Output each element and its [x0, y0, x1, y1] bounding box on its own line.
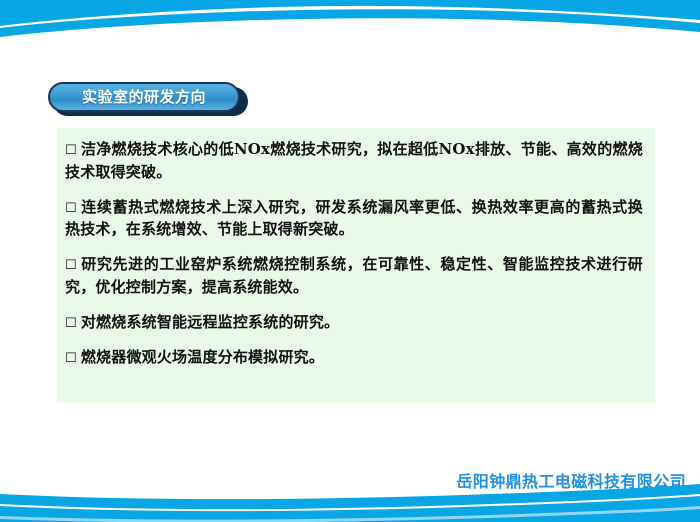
checkbox-icon: ☐	[65, 143, 81, 158]
title-badge-label: 实验室的研发方向	[82, 90, 206, 105]
top-wave-band-upper	[0, 0, 700, 26]
top-wave-decoration	[0, 0, 700, 46]
list-item-text: 燃烧器微观火场温度分布模拟研究。	[81, 348, 324, 366]
list-item: ☐对燃烧系统智能远程监控系统的研究。	[65, 311, 647, 334]
bullet-list: ☐洁净燃烧技术核心的低NOx燃烧技术研究，拟在超低NOx排放、节能、高效的燃烧技…	[65, 138, 647, 368]
list-item-text: 对燃烧系统智能远程监控系统的研究。	[81, 313, 339, 331]
list-item: ☐连续蓄热式燃烧技术上深入研究，研发系统漏风率更低、换热效率更高的蓄热式换热技术…	[65, 196, 647, 242]
checkbox-icon: ☐	[65, 316, 81, 331]
title-badge-body: 实验室的研发方向	[48, 82, 240, 112]
footer-company-name: 岳阳钟鼎热工电磁科技有限公司	[456, 468, 686, 492]
bottom-wave-highlight	[0, 506, 700, 522]
top-wave-band-lower	[0, 9, 700, 37]
slide-canvas: 实验室的研发方向 ☐洁净燃烧技术核心的低NOx燃烧技术研究，拟在超低NOx排放、…	[0, 0, 700, 522]
list-item-text: 连续蓄热式燃烧技术上深入研究，研发系统漏风率更低、换热效率更高的蓄热式换热技术，…	[65, 198, 643, 239]
list-item: ☐燃烧器微观火场温度分布模拟研究。	[65, 346, 647, 369]
checkbox-icon: ☐	[65, 201, 81, 216]
checkbox-icon: ☐	[65, 258, 81, 273]
list-item: ☐研究先进的工业窑炉系统燃烧控制系统，在可靠性、稳定性、智能监控技术进行研究，优…	[65, 253, 647, 299]
content-panel: ☐洁净燃烧技术核心的低NOx燃烧技术研究，拟在超低NOx排放、节能、高效的燃烧技…	[57, 128, 655, 403]
checkbox-icon: ☐	[65, 351, 81, 366]
list-item: ☐洁净燃烧技术核心的低NOx燃烧技术研究，拟在超低NOx排放、节能、高效的燃烧技…	[65, 138, 647, 184]
list-item-text: 研究先进的工业窑炉系统燃烧控制系统，在可靠性、稳定性、智能监控技术进行研究，优化…	[65, 255, 643, 296]
title-badge: 实验室的研发方向	[48, 82, 248, 116]
list-item-text: 洁净燃烧技术核心的低NOx燃烧技术研究，拟在超低NOx排放、节能、高效的燃烧技术…	[65, 140, 643, 181]
bottom-wave-band-lower	[0, 496, 700, 522]
